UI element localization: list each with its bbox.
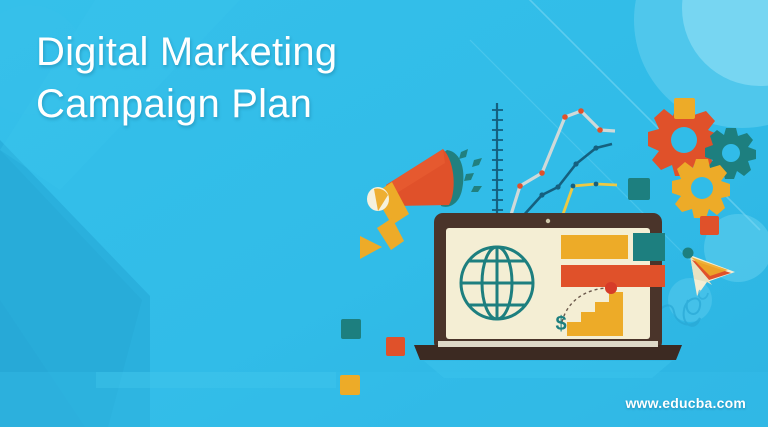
paper-plane [656,248,735,326]
laptop-camera [546,219,550,223]
paper-plane-trail-small [699,290,708,299]
square-yellow-top [674,98,695,119]
page-title: Digital Marketing Campaign Plan [36,26,456,130]
square-red-low [700,216,719,235]
laptop: $ [414,213,682,378]
marketing-banner: $ Digital Marketing Campaign Plan www.ed… [0,0,768,427]
title-line-2: Campaign Plan [36,78,456,130]
bar-yellow [561,235,628,259]
square-teal-left [341,319,361,339]
laptop-reflection [424,361,672,378]
square-yellow-left [340,375,360,395]
megaphone-handle [377,218,404,250]
gear-yellow [672,159,730,218]
globe-icon [461,247,533,319]
square-red-left [386,337,405,356]
watermark-url: www.educba.com [625,395,746,411]
dollar-sign: $ [555,313,566,335]
play-triangle-icon [360,236,382,259]
square-teal-mid [628,178,650,200]
title-line-1: Digital Marketing [36,26,456,78]
target-dot [605,282,617,294]
bar-teal [633,233,665,261]
laptop-base-edge [438,341,658,347]
paper-plane-tip [683,248,694,259]
laptop-base [414,345,682,360]
paper-plane-trail [656,298,700,325]
gear-group [648,104,756,218]
